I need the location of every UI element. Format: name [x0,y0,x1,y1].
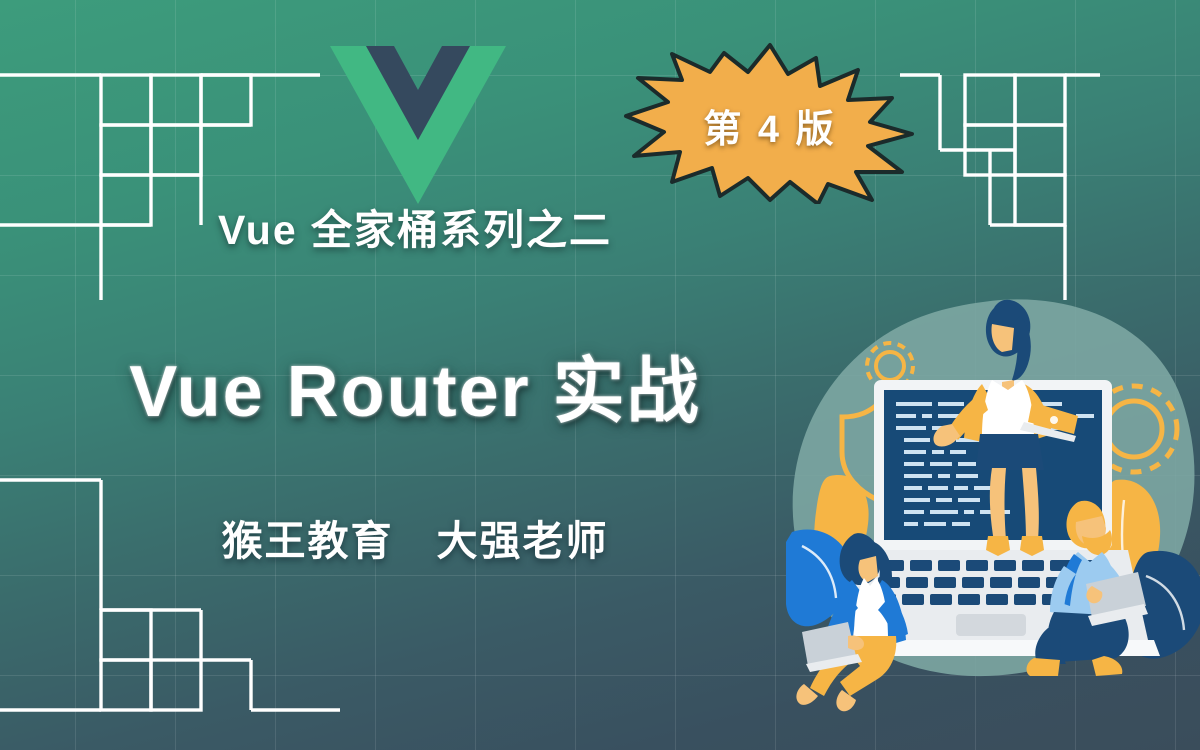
author-line: 猴王教育 大强老师 [0,507,830,567]
edition-badge-label: 第 4 版 [620,42,920,204]
title-block: Vue 全家桶系列之二 Vue Router 实战 猴王教育 大强老师 [0,196,830,567]
edition-badge: 第 4 版 [620,42,920,204]
laptop-logo [1050,416,1058,424]
laptop-trackpad [956,614,1026,636]
developers-laptop-illustration [786,284,1200,714]
cover-canvas: 第 4 版 Vue 全家桶系列之二 Vue Router 实战 猴王教育 大强老… [0,0,1200,750]
series-subtitle: Vue 全家桶系列之二 [0,196,830,256]
shoe [1092,656,1122,676]
shoe [1027,658,1060,676]
corner-grid-motif-icon [900,0,1200,300]
page-title: Vue Router 实战 [0,332,830,437]
skirt [976,434,1044,470]
vue-logo-icon [330,0,506,204]
